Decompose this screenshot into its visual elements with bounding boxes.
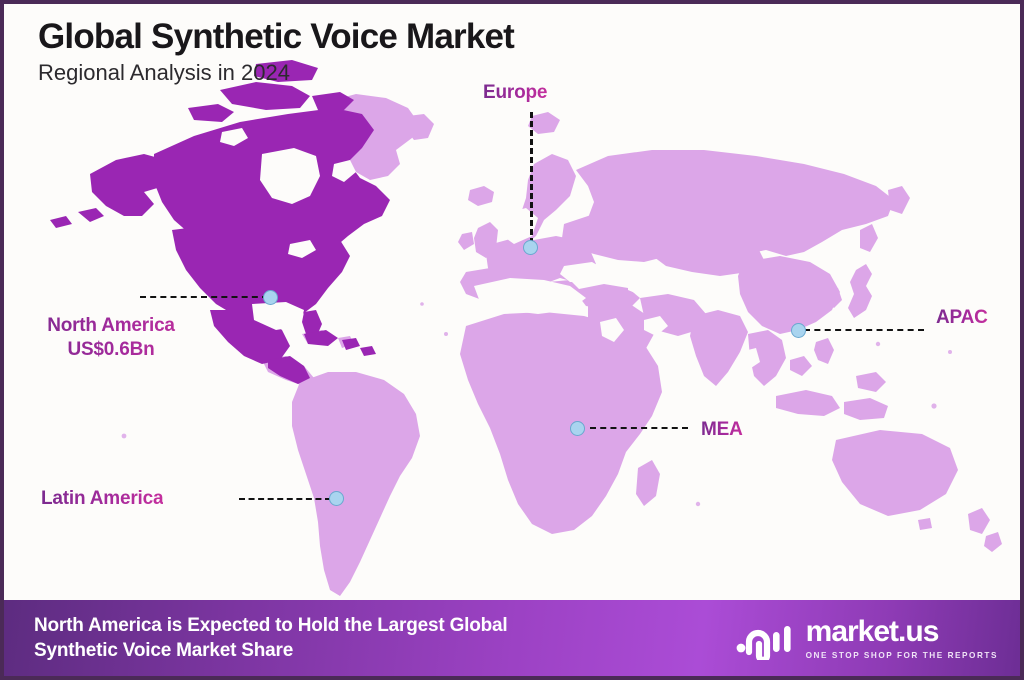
map-marker-europe[interactable] bbox=[523, 240, 538, 255]
logo-tagline: ONE STOP SHOP FOR THE REPORTS bbox=[806, 651, 998, 660]
leader-line-europe bbox=[530, 112, 533, 244]
leader-line-latin-america bbox=[239, 498, 331, 500]
callout-europe-label: Europe bbox=[483, 82, 547, 103]
leader-line-mea bbox=[590, 427, 688, 429]
market-us-logo-mark-icon bbox=[735, 616, 795, 660]
callout-apac-label: APAC bbox=[936, 307, 988, 328]
callout-europe: Europe bbox=[483, 82, 547, 105]
callout-apac: APAC bbox=[936, 307, 988, 330]
logo-wordmark: market.us bbox=[806, 617, 998, 647]
infographic-canvas: Global Synthetic Voice Market Regional A… bbox=[0, 0, 1024, 680]
callout-latin-america: Latin America bbox=[41, 488, 163, 511]
map-marker-latin-america[interactable] bbox=[329, 491, 344, 506]
callout-north-america-value: US$0.6Bn bbox=[18, 338, 204, 362]
banner-headline: North America is Expected to Hold the La… bbox=[34, 613, 508, 663]
callout-north-america-label: North America bbox=[18, 314, 204, 338]
leader-line-apac bbox=[804, 329, 924, 331]
banner-headline-line1: North America is Expected to Hold the La… bbox=[34, 613, 508, 638]
page-subtitle: Regional Analysis in 2024 bbox=[38, 59, 514, 87]
callout-mea-label: MEA bbox=[701, 419, 743, 440]
callout-latin-america-label: Latin America bbox=[41, 488, 163, 509]
page-title: Global Synthetic Voice Market bbox=[38, 18, 514, 56]
bottom-banner: North America is Expected to Hold the La… bbox=[4, 600, 1024, 676]
header-block: Global Synthetic Voice Market Regional A… bbox=[38, 18, 514, 86]
market-us-logo[interactable]: market.us ONE STOP SHOP FOR THE REPORTS bbox=[735, 616, 1012, 660]
map-marker-north-america[interactable] bbox=[263, 290, 278, 305]
map-marker-apac[interactable] bbox=[791, 323, 806, 338]
market-us-logo-text: market.us ONE STOP SHOP FOR THE REPORTS bbox=[806, 617, 998, 660]
map-marker-mea[interactable] bbox=[570, 421, 585, 436]
callout-north-america: North America US$0.6Bn bbox=[18, 314, 204, 363]
leader-line-north-america bbox=[140, 296, 268, 298]
banner-headline-line2: Synthetic Voice Market Share bbox=[34, 638, 508, 663]
callout-mea: MEA bbox=[701, 419, 743, 442]
